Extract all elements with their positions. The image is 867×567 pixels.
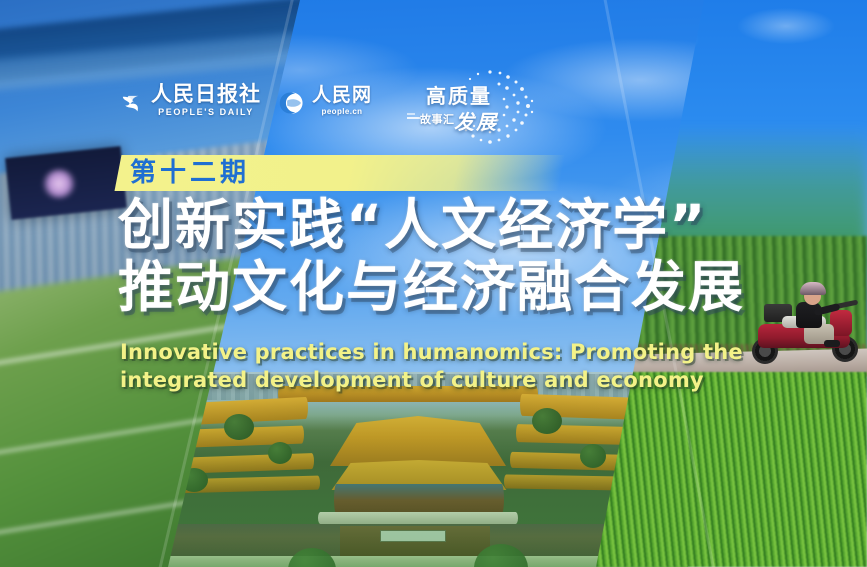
- subtitle: Innovative practices in humanomics: Prom…: [120, 340, 760, 393]
- people-cn-globe-icon: [279, 90, 305, 116]
- subtitle-line-2: integrated development of culture and ec…: [120, 368, 760, 393]
- peoples-daily-en-label: PEOPLE'S DAILY: [158, 108, 254, 117]
- campaign-small-label: 故事汇: [420, 111, 455, 127]
- peoples-daily-cn-label: 人民日报社: [151, 84, 261, 105]
- poster-canvas: 人民日报社 PEOPLE'S DAILY 人民网 people.cn: [0, 0, 867, 567]
- campaign-main-bottom-label: 发展: [454, 106, 498, 135]
- publisher-logo-group: 人民日报社 PEOPLE'S DAILY 人民网 people.cn: [118, 84, 372, 117]
- peoples-daily-logo[interactable]: 人民日报社 PEOPLE'S DAILY: [118, 84, 261, 117]
- peoples-daily-mark-icon: [118, 91, 144, 117]
- campaign-logo: 高质量 故事汇 发展: [408, 66, 543, 146]
- issue-badge-label: 第十二期: [130, 158, 250, 188]
- title-line-2: 推动文化与经济融合发展: [118, 258, 768, 316]
- stadium-screen: [5, 146, 127, 220]
- title-line-1: 创新实践“人文经济学”: [118, 196, 768, 254]
- people-cn-en-label: people.cn: [322, 108, 363, 116]
- campaign-main-top-label: 高质量: [426, 80, 492, 109]
- people-cn-logo[interactable]: 人民网 people.cn: [279, 86, 372, 116]
- page-title: 创新实践“人文经济学” 推动文化与经济融合发展: [118, 196, 768, 316]
- people-cn-cn-label: 人民网: [312, 86, 372, 105]
- subtitle-line-1: Innovative practices in humanomics: Prom…: [120, 340, 760, 365]
